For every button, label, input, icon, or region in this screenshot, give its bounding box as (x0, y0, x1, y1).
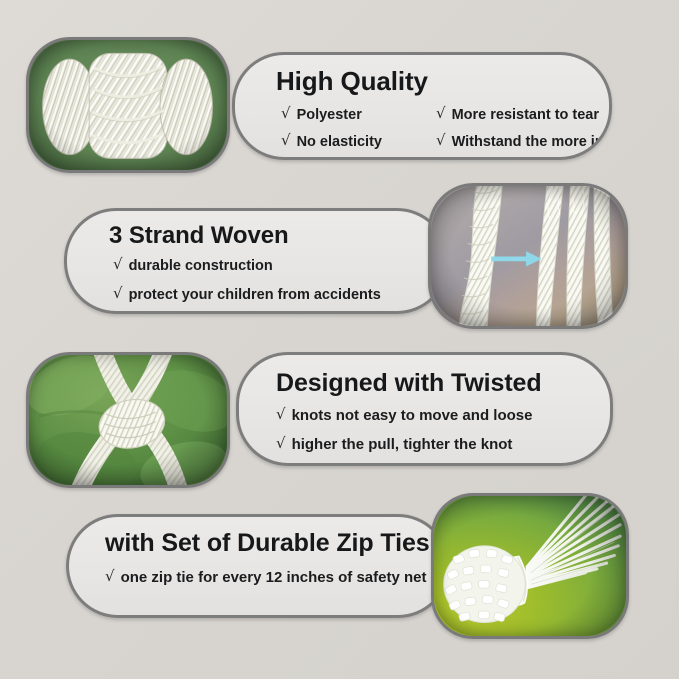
feature-bullet: √ Withstand the more impact (436, 132, 612, 150)
twisted-knot-photo (26, 352, 230, 488)
feature-title: High Quality (259, 64, 589, 96)
feature-bullet: √ one zip tie for every 12 inches of saf… (105, 568, 427, 586)
check-icon: √ (281, 104, 291, 122)
feature-card-three-strand-woven: 3 Strand Woven √ durable construction √ … (64, 208, 449, 314)
feature-bullet-label: higher the pull, tighter the knot (292, 436, 513, 453)
rope-coil-illustration (29, 40, 227, 170)
check-icon: √ (436, 104, 446, 122)
feature-title: with Set of Durable Zip Ties (93, 526, 427, 558)
feature-bullet-label: one zip tie for every 12 inches of safet… (121, 569, 427, 586)
check-icon: √ (113, 255, 123, 273)
feature-bullet: √ protect your children from accidents (113, 285, 426, 303)
rope-coil-photo (26, 37, 230, 173)
feature-bullet-label: durable construction (129, 258, 273, 274)
zip-ties-bundle-photo (431, 493, 629, 639)
check-icon: √ (113, 284, 123, 302)
feature-bullet: √ higher the pull, tighter the knot (276, 435, 590, 453)
feature-title: 3 Strand Woven (91, 220, 426, 249)
feature-bullet: √ Polyester (281, 105, 436, 123)
feature-card-body: Designed with Twisted √ knots not easy t… (239, 355, 610, 463)
check-icon: √ (436, 131, 446, 149)
feature-bullet-label: Withstand the more impact (452, 134, 612, 150)
feature-card-designed-with-twisted: Designed with Twisted √ knots not easy t… (236, 352, 613, 466)
product-feature-infographic: High Quality √ Polyester √ More resistan… (0, 0, 679, 679)
feature-bullet-list: √ knots not easy to move and loose √ hig… (263, 406, 590, 453)
feature-bullet-list: √ durable construction √ protect your ch… (91, 256, 426, 303)
feature-bullet-label: protect your children from accidents (129, 287, 381, 303)
feature-card-body: with Set of Durable Zip Ties √ one zip t… (69, 517, 447, 615)
three-strand-illustration (431, 186, 625, 326)
feature-bullet-list: √ Polyester √ More resistant to tear √ N… (259, 105, 589, 150)
feature-bullet: √ durable construction (113, 256, 426, 274)
feature-bullet: √ knots not easy to move and loose (276, 406, 590, 424)
check-icon: √ (281, 131, 291, 149)
feature-card-body: 3 Strand Woven √ durable construction √ … (67, 211, 446, 311)
feature-bullet: √ More resistant to tear (436, 105, 612, 123)
twisted-knot-illustration (29, 355, 227, 485)
check-icon: √ (105, 567, 115, 585)
feature-card-high-quality: High Quality √ Polyester √ More resistan… (232, 52, 612, 160)
feature-bullet-label: Polyester (297, 107, 362, 123)
check-icon: √ (276, 405, 286, 423)
feature-card-body: High Quality √ Polyester √ More resistan… (235, 55, 609, 157)
check-icon: √ (276, 434, 286, 452)
feature-bullet-list: √ one zip tie for every 12 inches of saf… (93, 568, 427, 586)
feature-card-durable-zip-ties: with Set of Durable Zip Ties √ one zip t… (66, 514, 450, 618)
zip-ties-illustration (434, 496, 626, 636)
feature-title: Designed with Twisted (263, 364, 590, 398)
feature-bullet-label: knots not easy to move and loose (292, 407, 533, 424)
feature-bullet-label: More resistant to tear (452, 107, 599, 123)
three-strand-closeup-photo (428, 183, 628, 329)
feature-bullet: √ No elasticity (281, 132, 436, 150)
feature-bullet-label: No elasticity (297, 134, 382, 150)
